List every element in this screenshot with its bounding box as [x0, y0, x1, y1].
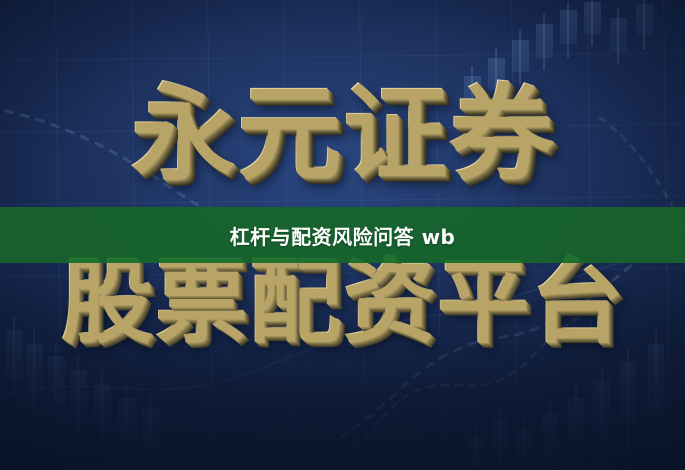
banner-caption: 杠杆与配资风险问答 wb [0, 207, 685, 263]
brand-headline-secondary: 股票配资平台 [0, 250, 685, 354]
promo-banner: 永元证券 股票配资平台 杠杆与配资风险问答 wb [0, 0, 685, 470]
brand-headline-primary: 永元证券 [0, 74, 685, 192]
